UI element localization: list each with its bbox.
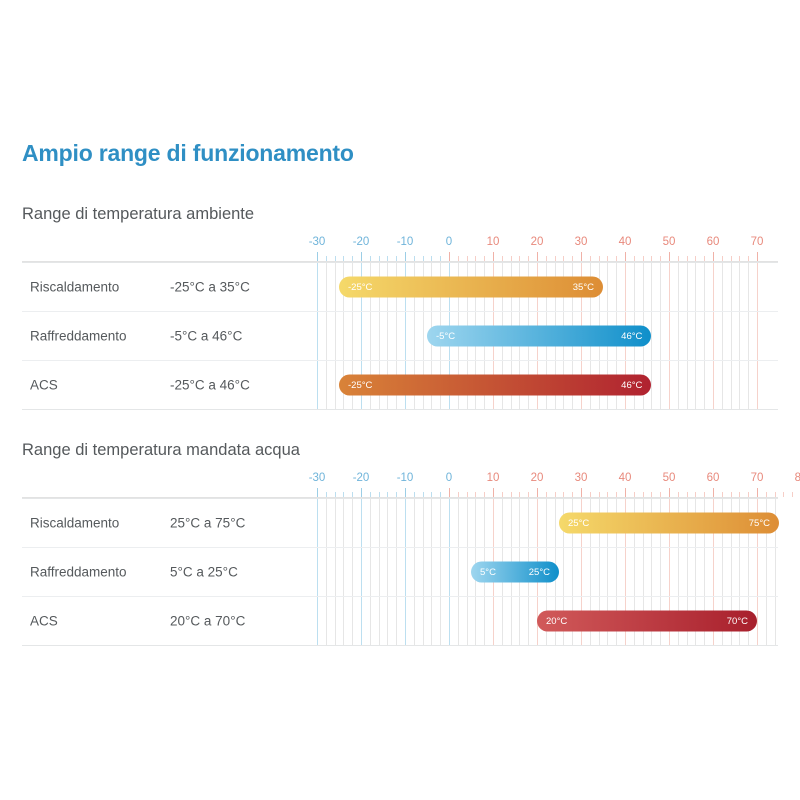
axis-tick (423, 256, 424, 261)
axis-tick (687, 256, 688, 261)
axis-tick (352, 492, 353, 497)
axis-tick-label: 40 (619, 472, 632, 484)
axis-tick (783, 492, 784, 497)
axis-tick (335, 256, 336, 261)
axis-tick (475, 492, 476, 497)
table-row: ACS-25°C a 46°C-25°C46°C (22, 361, 778, 409)
range-bar-start-label: 25°C (568, 518, 589, 529)
axis-tick-label: -30 (309, 472, 326, 484)
axis-tick (414, 256, 415, 261)
axis-tick (572, 256, 573, 261)
axis-tick (326, 256, 327, 261)
row-range-text: -25°C a 46°C (170, 378, 250, 393)
axis-tick (660, 492, 661, 497)
axis-tick (563, 256, 564, 261)
range-bar-end-label: 46°C (621, 331, 642, 342)
axis-tick-label: 10 (487, 472, 500, 484)
axis-tick (511, 256, 512, 261)
axis-tick (335, 492, 336, 497)
range-bar-end-label: 35°C (573, 282, 594, 293)
axis-tick (634, 256, 635, 261)
axis-tick-label: 50 (663, 236, 676, 248)
axis-tick (563, 492, 564, 497)
range-bar-start-label: -5°C (436, 331, 455, 342)
axis-tick (757, 488, 758, 497)
axis-tick (748, 256, 749, 261)
axis-tick (581, 488, 582, 497)
axis-tick (387, 256, 388, 261)
table-row: Riscaldamento25°C a 75°C25°C75°C (22, 499, 778, 548)
axis-tick (414, 492, 415, 497)
range-bar: 5°C25°C (471, 562, 559, 583)
axis-tick (669, 252, 670, 261)
table-row: Raffreddamento-5°C a 46°C-5°C46°C (22, 312, 778, 361)
axis-tick (449, 488, 450, 497)
axis-tick (546, 492, 547, 497)
axis-1: -30-20-1001020304050607080 (22, 472, 778, 498)
row-range-text: -5°C a 46°C (170, 329, 242, 344)
axis-tick (352, 256, 353, 261)
axis-tick-label: 50 (663, 472, 676, 484)
axis-tick (555, 492, 556, 497)
axis-tick (317, 252, 318, 261)
range-bar: -25°C46°C (339, 375, 651, 396)
axis-tick-label: 0 (446, 236, 452, 248)
axis-tick (713, 252, 714, 261)
section-water-flow-temperature: Range di temperatura mandata acqua -30-2… (22, 441, 778, 646)
axis-tick (678, 492, 679, 497)
axis-tick (722, 256, 723, 261)
axis-tick (748, 492, 749, 497)
axis-tick (651, 492, 652, 497)
axis-tick (625, 488, 626, 497)
section-ambient-temperature: Range di temperatura ambiente -30-20-100… (22, 205, 778, 410)
axis-tick (484, 256, 485, 261)
axis-tick (502, 492, 503, 497)
axis-tick (458, 492, 459, 497)
axis-tick (757, 252, 758, 261)
axis-tick (467, 256, 468, 261)
axis-tick (440, 256, 441, 261)
row-range-text: 25°C a 75°C (170, 516, 245, 531)
range-bar: 20°C70°C (537, 611, 757, 632)
row-mode-label: ACS (30, 614, 58, 629)
axis-tick (370, 256, 371, 261)
axis-tick (555, 256, 556, 261)
axis-tick (739, 492, 740, 497)
page-title: Ampio range di funzionamento (22, 140, 354, 167)
axis-tick (528, 492, 529, 497)
axis-tick (616, 492, 617, 497)
row-mode-label: Riscaldamento (30, 280, 119, 295)
axis-tick-label: -20 (353, 472, 370, 484)
axis-tick-label: 0 (446, 472, 452, 484)
axis-tick-label: 70 (751, 472, 764, 484)
axis-tick-label: 40 (619, 236, 632, 248)
axis-tick (792, 492, 793, 497)
axis-tick (713, 488, 714, 497)
axis-tick-label: -10 (397, 236, 414, 248)
axis-tick-label: 20 (531, 472, 544, 484)
axis-tick (590, 492, 591, 497)
axis-tick (361, 488, 362, 497)
axis-tick (396, 256, 397, 261)
axis-tick (475, 256, 476, 261)
axis-tick-label: -30 (309, 236, 326, 248)
range-bar-end-label: 75°C (749, 518, 770, 529)
axis-tick (625, 252, 626, 261)
range-bar: -25°C35°C (339, 277, 603, 298)
axis-tick (537, 488, 538, 497)
axis-tick (370, 492, 371, 497)
axis-tick (379, 256, 380, 261)
axis-tick (678, 256, 679, 261)
axis-tick (458, 256, 459, 261)
range-bar: -5°C46°C (427, 326, 651, 347)
axis-tick (431, 256, 432, 261)
axis-tick (722, 492, 723, 497)
axis-tick (493, 252, 494, 261)
axis-tick (405, 252, 406, 261)
range-bar-start-label: -25°C (348, 282, 372, 293)
axis-tick-label: 30 (575, 236, 588, 248)
axis-tick-label: 70 (751, 236, 764, 248)
range-bar-end-label: 25°C (529, 567, 550, 578)
section-heading-1: Range di temperatura mandata acqua (22, 441, 778, 460)
axis-tick (704, 492, 705, 497)
axis-tick (643, 492, 644, 497)
axis-tick (519, 256, 520, 261)
axis-tick (669, 488, 670, 497)
axis-tick (695, 256, 696, 261)
axis-tick (519, 492, 520, 497)
axis-0: -30-20-10010203040506070 (22, 236, 778, 262)
axis-tick-label: -10 (397, 472, 414, 484)
axis-tick (660, 256, 661, 261)
axis-tick (484, 492, 485, 497)
axis-tick (651, 256, 652, 261)
axis-tick (590, 256, 591, 261)
row-mode-label: Raffreddamento (30, 329, 127, 344)
axis-tick-label: 80 (795, 472, 800, 484)
axis-tick (537, 252, 538, 261)
axis-tick-label: 60 (707, 236, 720, 248)
axis-tick (599, 492, 600, 497)
axis-tick (599, 256, 600, 261)
axis-tick (343, 256, 344, 261)
axis-tick-label: 20 (531, 236, 544, 248)
range-bar-start-label: 20°C (546, 616, 567, 627)
axis-tick-label: 30 (575, 472, 588, 484)
row-range-text: 5°C a 25°C (170, 565, 238, 580)
row-mode-label: ACS (30, 378, 58, 393)
axis-tick (431, 492, 432, 497)
axis-tick (616, 256, 617, 261)
range-bar-start-label: -25°C (348, 380, 372, 391)
axis-tick (704, 256, 705, 261)
row-range-text: -25°C a 35°C (170, 280, 250, 295)
axis-tick (607, 492, 608, 497)
axis-tick (731, 492, 732, 497)
axis-tick (317, 488, 318, 497)
table-row: Riscaldamento-25°C a 35°C-25°C35°C (22, 263, 778, 312)
row-mode-label: Riscaldamento (30, 516, 119, 531)
range-bar-end-label: 70°C (727, 616, 748, 627)
range-bar-end-label: 46°C (621, 380, 642, 391)
axis-tick (775, 492, 776, 497)
axis-tick (581, 252, 582, 261)
row-range-text: 20°C a 70°C (170, 614, 245, 629)
axis-tick (546, 256, 547, 261)
axis-tick (361, 252, 362, 261)
table-row: Raffreddamento5°C a 25°C5°C25°C (22, 548, 778, 597)
axis-tick-label: -20 (353, 236, 370, 248)
axis-tick (396, 492, 397, 497)
table-row: ACS20°C a 70°C20°C70°C (22, 597, 778, 645)
range-bar-start-label: 5°C (480, 567, 496, 578)
axis-tick (467, 492, 468, 497)
table-1: Riscaldamento25°C a 75°C25°C75°CRaffredd… (22, 498, 778, 646)
axis-tick (387, 492, 388, 497)
axis-tick (528, 256, 529, 261)
axis-tick (343, 492, 344, 497)
axis-tick (423, 492, 424, 497)
range-bar: 25°C75°C (559, 513, 779, 534)
row-mode-label: Raffreddamento (30, 565, 127, 580)
axis-tick (695, 492, 696, 497)
axis-tick (493, 488, 494, 497)
axis-tick (326, 492, 327, 497)
axis-tick (607, 256, 608, 261)
axis-tick (687, 492, 688, 497)
table-0: Riscaldamento-25°C a 35°C-25°C35°CRaffre… (22, 262, 778, 410)
axis-tick (440, 492, 441, 497)
axis-tick (511, 492, 512, 497)
axis-tick (405, 488, 406, 497)
section-heading-0: Range di temperatura ambiente (22, 205, 778, 224)
infographic-page: Ampio range di funzionamento Range di te… (0, 0, 800, 800)
axis-tick (731, 256, 732, 261)
axis-tick (739, 256, 740, 261)
axis-tick (572, 492, 573, 497)
axis-tick-label: 60 (707, 472, 720, 484)
axis-tick (449, 252, 450, 261)
axis-tick (766, 492, 767, 497)
axis-tick (379, 492, 380, 497)
axis-tick-label: 10 (487, 236, 500, 248)
axis-tick (634, 492, 635, 497)
axis-tick (643, 256, 644, 261)
axis-tick (502, 256, 503, 261)
